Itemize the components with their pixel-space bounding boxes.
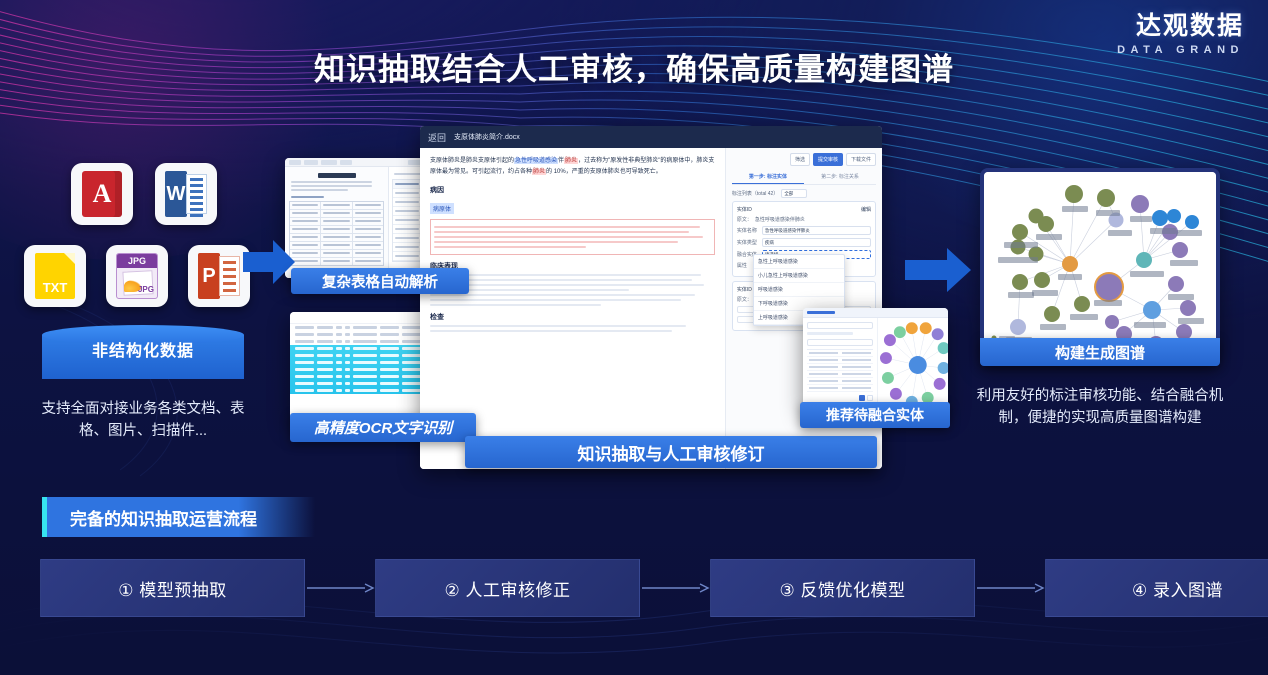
word-file-icon: W bbox=[155, 163, 217, 225]
process-step-4[interactable]: ④ 录入图谱 bbox=[1045, 559, 1268, 617]
back-button[interactable]: 返回 bbox=[428, 131, 446, 144]
pdf-file-icon: A bbox=[71, 163, 133, 225]
fusion-attributes-table bbox=[807, 349, 873, 392]
fusion-radial-graph bbox=[878, 318, 948, 412]
source-table bbox=[289, 201, 384, 266]
word-glyph: W bbox=[165, 171, 207, 217]
fusion-form bbox=[803, 318, 878, 412]
pdf-glyph: A bbox=[82, 171, 122, 217]
process-step-1[interactable]: ① 模型预抽取 bbox=[40, 559, 305, 617]
jpg-badge-bottom: JPG bbox=[138, 285, 154, 294]
process-step-2[interactable]: ② 人工审核修正 bbox=[375, 559, 640, 617]
entity-name-row: 实体名称 急性呼吸道感染伴肺炎 bbox=[737, 226, 871, 235]
screenshot-knowledge-graph[interactable] bbox=[980, 168, 1220, 363]
doc-text-d: 的 10%，严重的支原体肺炎也可导致死亡。 bbox=[546, 169, 662, 175]
label-ocr-recognition: 高精度OCR文字识别 bbox=[290, 413, 476, 442]
flow-arrow-2 bbox=[905, 248, 971, 292]
tab-annotate-relation[interactable]: 第二步: 标注关系 bbox=[804, 170, 876, 184]
entity-source-value: 急性呼吸道感染伴肺炎 bbox=[755, 216, 805, 223]
brand-logo: 达观数据 DATA GRAND bbox=[1117, 14, 1244, 56]
dropdown-option-1[interactable]: 小儿急性上呼吸道感染 bbox=[754, 269, 844, 283]
doc-title-bar bbox=[318, 173, 356, 178]
tab-annotate-entity[interactable]: 第一步: 标注实体 bbox=[732, 170, 804, 184]
ppt-letter: P bbox=[198, 253, 220, 299]
brand-logo-en: DATA GRAND bbox=[1117, 45, 1244, 56]
entity-type-label: 实体类型 bbox=[737, 239, 759, 246]
entity-source-label: 原文： bbox=[737, 216, 752, 223]
entity-id-label: 实体ID bbox=[737, 206, 752, 213]
fusion-dialog-header bbox=[803, 308, 948, 318]
screenshot-entity-fusion-dialog[interactable] bbox=[803, 308, 948, 412]
submit-button[interactable]: 提交审核 bbox=[813, 153, 843, 166]
dropdown-option-2[interactable]: 呼吸道感染 bbox=[754, 283, 844, 297]
fusion-field-name[interactable] bbox=[807, 339, 873, 346]
ppt-glyph: P bbox=[198, 253, 240, 299]
doc-annotated-block bbox=[430, 219, 715, 255]
process-section-title: 完备的知识抽取运营流程 bbox=[42, 497, 315, 537]
process-arrow-2 bbox=[640, 582, 710, 594]
doc-inline-tag[interactable]: 病原体 bbox=[430, 203, 454, 214]
list-filter-select[interactable]: 全部 bbox=[781, 189, 807, 198]
entity-source-row: 原文： 急性呼吸道感染伴肺炎 bbox=[737, 216, 871, 223]
dropdown-option-0[interactable]: 急性上呼吸道感染 bbox=[754, 255, 844, 269]
side-toolbar: 筛选 提交审核 下载文件 bbox=[732, 153, 876, 166]
graph-caption: 利用友好的标注审核功能、结合融合机制，便捷的实现高质量图谱构建 bbox=[975, 385, 1225, 430]
app-file-name: 支原体肺炎简介.docx bbox=[454, 132, 520, 142]
entity-type-row: 实体类型 疾病 bbox=[737, 238, 871, 247]
entity-attr-label: 属性 bbox=[737, 262, 747, 269]
fusion-field-type[interactable] bbox=[807, 322, 873, 329]
jpg-file-icon: JPG JPG bbox=[106, 245, 168, 307]
txt-file-icon: TXT bbox=[24, 245, 86, 307]
fusion-dialog-title bbox=[807, 311, 835, 314]
entity-source-label-2: 原文： bbox=[737, 296, 752, 303]
label-table-parsing: 复杂表格自动解析 bbox=[291, 268, 469, 294]
process-arrow-1 bbox=[305, 582, 375, 594]
process-arrow-3 bbox=[975, 582, 1045, 594]
page-title: 知识抽取结合人工审核，确保高质量构建图谱 bbox=[0, 44, 1268, 89]
label-knowledge-graph: 构建生成图谱 bbox=[980, 338, 1220, 366]
doc-heading-symptom: 临床表现 bbox=[430, 261, 715, 271]
word-lines bbox=[186, 174, 207, 214]
doc-highlight-3[interactable]: 肺炎 bbox=[532, 169, 546, 175]
entity-name-label: 实体名称 bbox=[737, 227, 759, 234]
app-header: 返回 支原体肺炎简介.docx bbox=[420, 126, 882, 148]
annotation-tabs: 第一步: 标注实体 第二步: 标注关系 bbox=[732, 170, 876, 185]
brand-logo-cn: 达观数据 bbox=[1117, 14, 1244, 39]
flow-arrow-1 bbox=[243, 240, 295, 284]
source-document-preview bbox=[285, 167, 389, 278]
doc-heading-cause: 病因 bbox=[430, 185, 715, 195]
filter-button[interactable]: 筛选 bbox=[790, 153, 810, 166]
input-stage-caption: 支持全面对接业务各类文档、表格、图片、扫描件... bbox=[30, 398, 256, 443]
ppt-file-icon: P bbox=[188, 245, 250, 307]
ppt-lines bbox=[219, 256, 240, 296]
annotation-list-header: 标注列表（total 42） 全部 bbox=[732, 189, 876, 198]
unstructured-data-cylinder: 非结构化数据 bbox=[42, 325, 244, 385]
download-button[interactable]: 下载文件 bbox=[846, 153, 876, 166]
cylinder-label: 非结构化数据 bbox=[42, 337, 244, 361]
word-letter: W bbox=[165, 171, 187, 217]
doc-highlight-2[interactable]: 肺炎 bbox=[564, 158, 578, 164]
jpg-badge-top: JPG bbox=[117, 254, 157, 268]
knowledge-graph-svg bbox=[984, 172, 1216, 359]
fusion-dialog-body bbox=[803, 318, 948, 412]
label-knowledge-extraction: 知识抽取与人工审核修订 bbox=[465, 436, 877, 468]
entity-edit-action[interactable]: 编辑 bbox=[861, 206, 871, 213]
process-steps: ① 模型预抽取 ② 人工审核修正 ③ 反馈优化模型 ④ 录入图谱 bbox=[40, 559, 1230, 617]
label-entity-fusion: 推荐待融合实体 bbox=[800, 402, 950, 428]
doc-text-a: 支原体肺炎是肺炎支原体引起的 bbox=[430, 158, 514, 164]
entity-type-select[interactable]: 疾病 bbox=[762, 238, 871, 247]
process-step-3[interactable]: ③ 反馈优化模型 bbox=[710, 559, 975, 617]
doc-heading-check: 检查 bbox=[430, 312, 715, 322]
txt-glyph: TXT bbox=[35, 253, 75, 299]
list-header-label: 标注列表（total 42） bbox=[732, 190, 778, 197]
entity-name-input[interactable]: 急性呼吸道感染伴肺炎 bbox=[762, 226, 871, 235]
fusion-pagination-current[interactable] bbox=[859, 395, 865, 401]
entity-card-header: 实体ID 编辑 bbox=[737, 206, 871, 213]
jpg-glyph: JPG JPG bbox=[116, 253, 158, 299]
fusion-pagination-next[interactable] bbox=[867, 395, 873, 401]
doc-paragraph-1: 支原体肺炎是肺炎支原体引起的急性呼吸道感染伴肺炎，过去称为"原发性非典型肺炎"的… bbox=[430, 156, 715, 179]
entity-id-label-2: 实体ID bbox=[737, 286, 752, 293]
doc-highlight-1[interactable]: 急性呼吸道感染 bbox=[514, 158, 558, 164]
input-file-icons-group: A W TXT JPG JPG P bbox=[60, 163, 250, 313]
